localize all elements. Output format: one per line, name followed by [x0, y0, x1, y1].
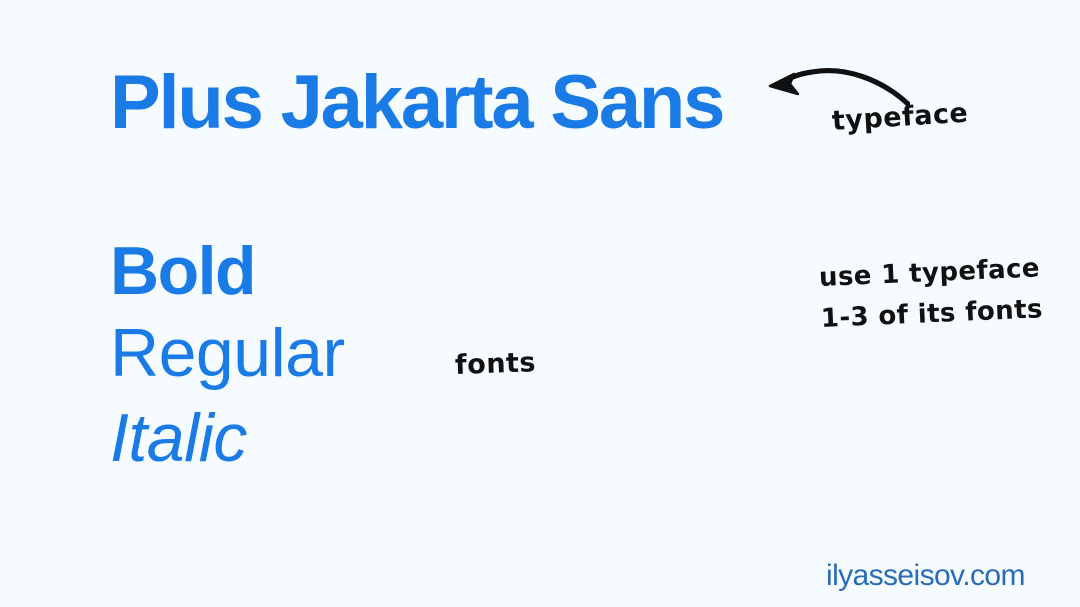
- font-sample-italic: Italic: [110, 396, 345, 480]
- annotation-fonts: fonts: [454, 347, 536, 381]
- annotation-usage-rule-line-2: 1-3 of its fonts: [820, 289, 1044, 340]
- annotation-usage-rule: use 1 typeface 1-3 of its fonts: [818, 248, 1043, 340]
- typeface-name-title: Plus Jakarta Sans: [110, 58, 723, 148]
- footer-website: ilyasseisov.com: [826, 559, 1025, 593]
- slide-canvas: Plus Jakarta Sans typeface Bold Regular …: [0, 0, 1080, 607]
- font-sample-bold: Bold: [110, 232, 345, 310]
- font-samples-list: Bold Regular Italic: [110, 232, 345, 480]
- font-sample-regular: Regular: [110, 310, 345, 396]
